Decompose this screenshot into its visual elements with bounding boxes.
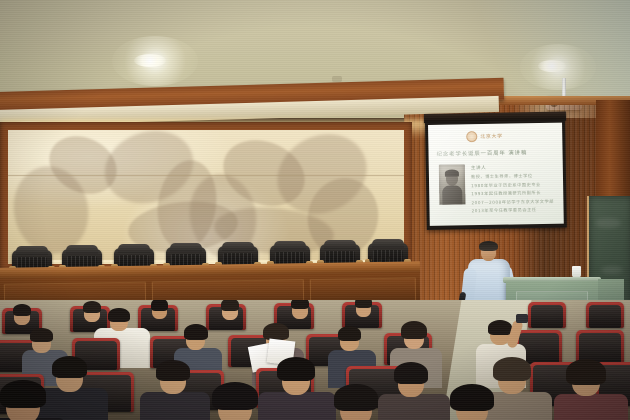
slide-title: 纪念老学长诞辰一百周年 演讲稿 [436,148,558,158]
projection-screen: 北京大学 纪念老学长诞辰一百周年 演讲稿 主讲人 教授、博士生导师，博士学位 1… [425,120,567,230]
slide-line: 教授、博士生导师，博士学位 [471,173,557,181]
auditorium-seat [528,302,566,328]
university-seal-icon [466,131,477,142]
slide-university-logo: 北京大学 [466,131,503,143]
smartphone-icon [516,314,528,323]
audience-area [0,300,630,420]
slide-portrait-photo [439,164,466,204]
projector-mount-pole [562,78,566,98]
smoke-detector-icon [332,76,342,82]
slide-logo-text: 北京大学 [480,133,503,140]
auditorium-seat [586,302,624,328]
slide-body-text: 主讲人 教授、博士生导师，博士学位 1980年毕业于历史系中国史专业 1993年… [471,164,558,217]
downlight-core [134,54,166,67]
slide-line: 1993年起任教授兼研究所副所长 [471,190,557,197]
slide-surface: 北京大学 纪念老学长诞辰一百周年 演讲稿 主讲人 教授、博士生导师，博士学位 1… [428,123,564,226]
slide-speaker-name: 主讲人 [471,164,557,172]
speaker-hair [479,241,498,251]
slide-line: 1980年毕业于历史系中国史专业 [471,181,557,188]
slide-line: 2007—2008年访学于东京大学文学部 [471,198,557,206]
slide-line: 2013年至今任教学委员会主任 [472,207,558,215]
downlight-core [538,60,566,72]
auditorium-photo: 北京大学 纪念老学长诞辰一百周年 演讲稿 主讲人 教授、博士生导师，博士学位 1… [0,0,630,420]
marble-panel-seam [8,175,404,176]
